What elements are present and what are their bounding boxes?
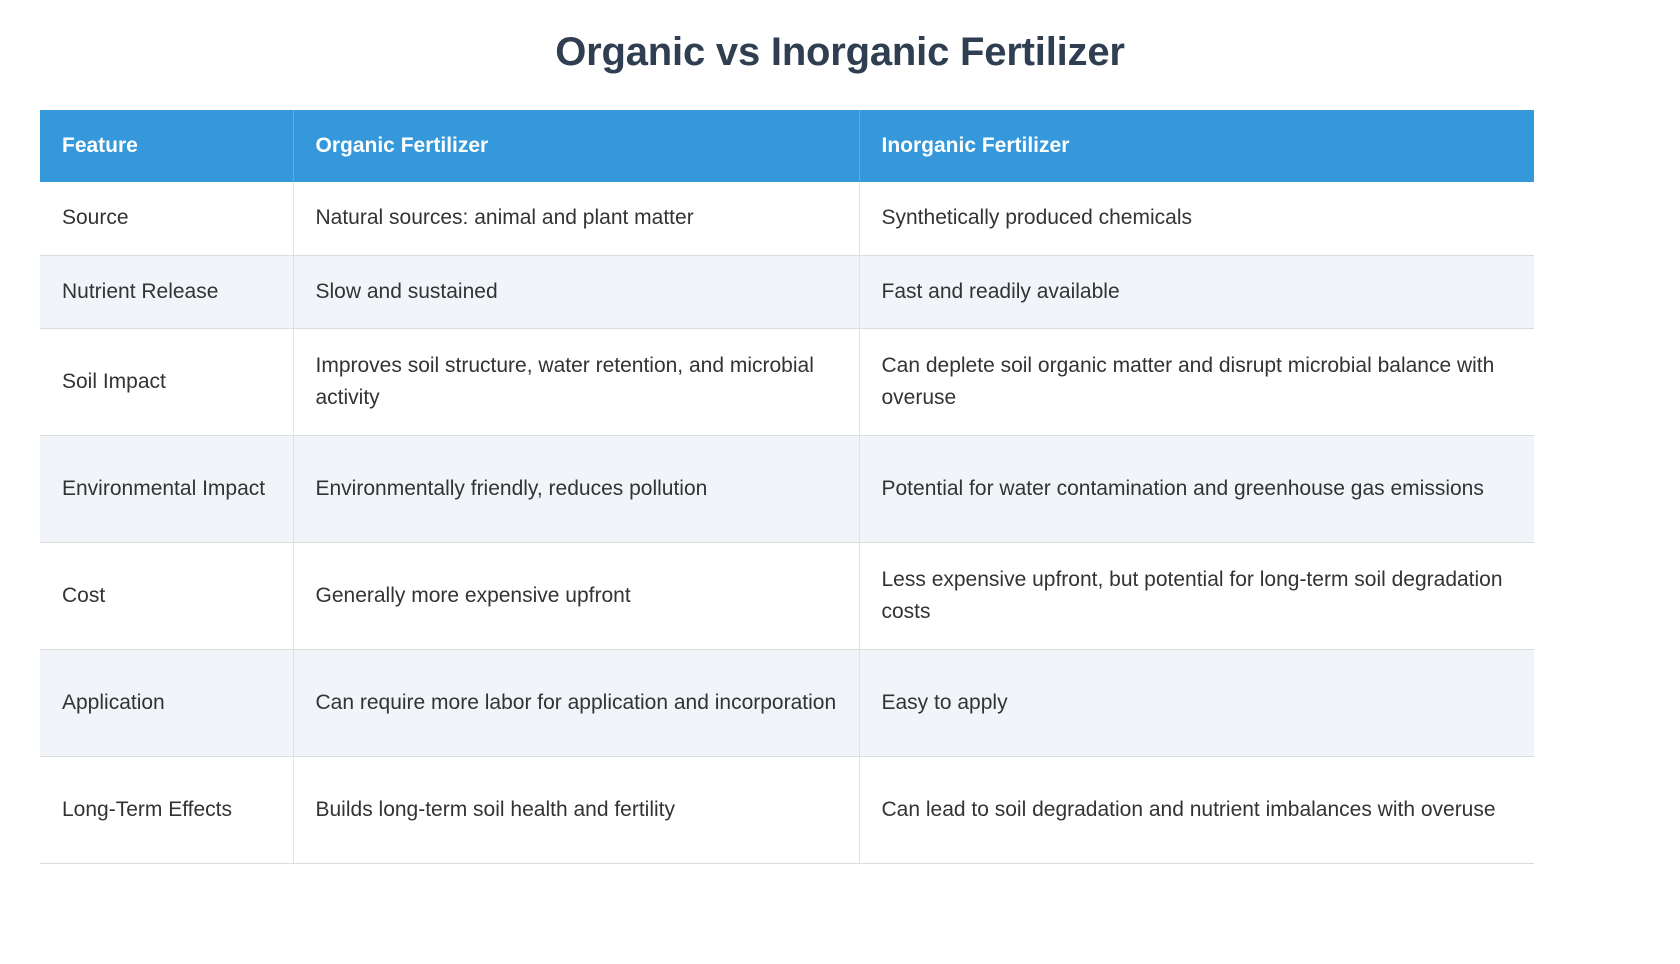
- cell-organic: Slow and sustained: [293, 255, 859, 329]
- column-header-organic-fertilizer: Organic Fertilizer: [293, 110, 859, 182]
- cell-feature: Cost: [40, 543, 293, 650]
- cell-inorganic: Easy to apply: [859, 650, 1534, 757]
- column-header-feature: Feature: [40, 110, 293, 182]
- cell-feature: Nutrient Release: [40, 255, 293, 329]
- table-row: Source Natural sources: animal and plant…: [40, 182, 1534, 255]
- cell-organic: Natural sources: animal and plant matter: [293, 182, 859, 255]
- comparison-table-container: Feature Organic Fertilizer Inorganic Fer…: [40, 110, 1534, 864]
- cell-organic: Can require more labor for application a…: [293, 650, 859, 757]
- table-row: Soil Impact Improves soil structure, wat…: [40, 329, 1534, 436]
- table-row: Nutrient Release Slow and sustained Fast…: [40, 255, 1534, 329]
- cell-feature: Application: [40, 650, 293, 757]
- cell-inorganic: Fast and readily available: [859, 255, 1534, 329]
- cell-organic: Generally more expensive upfront: [293, 543, 859, 650]
- cell-organic: Builds long-term soil health and fertili…: [293, 757, 859, 864]
- page-title: Organic vs Inorganic Fertilizer: [0, 0, 1680, 76]
- cell-inorganic: Can lead to soil degradation and nutrien…: [859, 757, 1534, 864]
- table-header-row: Feature Organic Fertilizer Inorganic Fer…: [40, 110, 1534, 182]
- cell-inorganic: Potential for water contamination and gr…: [859, 436, 1534, 543]
- cell-feature: Source: [40, 182, 293, 255]
- table-row: Application Can require more labor for a…: [40, 650, 1534, 757]
- cell-inorganic: Synthetically produced chemicals: [859, 182, 1534, 255]
- comparison-table: Feature Organic Fertilizer Inorganic Fer…: [40, 110, 1534, 864]
- cell-inorganic: Less expensive upfront, but potential fo…: [859, 543, 1534, 650]
- column-header-inorganic-fertilizer: Inorganic Fertilizer: [859, 110, 1534, 182]
- cell-feature: Long-Term Effects: [40, 757, 293, 864]
- cell-inorganic: Can deplete soil organic matter and disr…: [859, 329, 1534, 436]
- table-header: Feature Organic Fertilizer Inorganic Fer…: [40, 110, 1534, 182]
- cell-organic: Environmentally friendly, reduces pollut…: [293, 436, 859, 543]
- table-row: Cost Generally more expensive upfront Le…: [40, 543, 1534, 650]
- table-row: Long-Term Effects Builds long-term soil …: [40, 757, 1534, 864]
- cell-organic: Improves soil structure, water retention…: [293, 329, 859, 436]
- cell-feature: Soil Impact: [40, 329, 293, 436]
- cell-feature: Environmental Impact: [40, 436, 293, 543]
- table-body: Source Natural sources: animal and plant…: [40, 182, 1534, 864]
- page-root: Organic vs Inorganic Fertilizer Feature …: [0, 0, 1680, 964]
- table-row: Environmental Impact Environmentally fri…: [40, 436, 1534, 543]
